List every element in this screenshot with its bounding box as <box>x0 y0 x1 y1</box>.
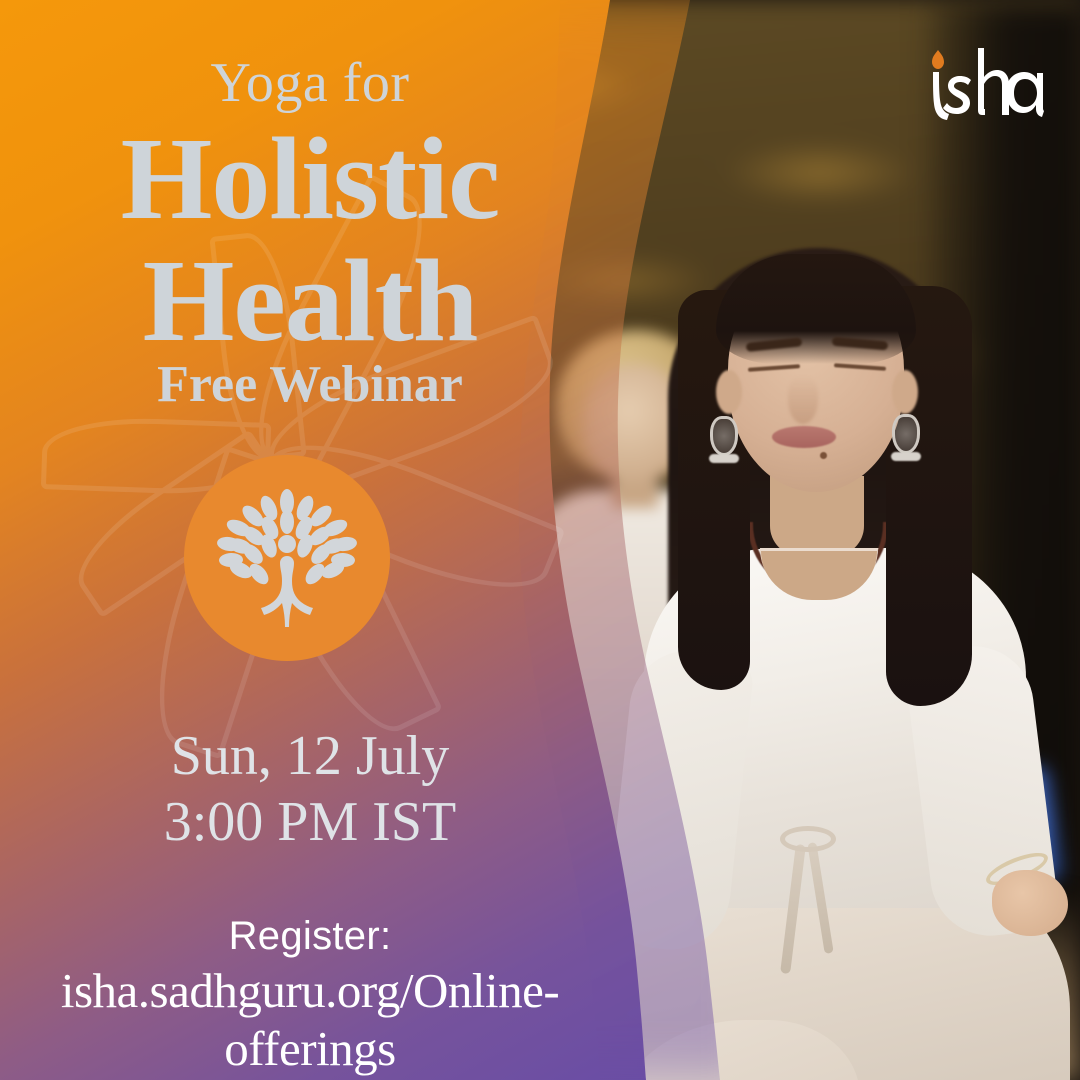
isha-logo <box>920 42 1044 134</box>
promo-poster: Yoga for Holistic Health Free Webinar <box>0 0 1080 1080</box>
headline-line-2: Health <box>0 240 620 362</box>
register-url[interactable]: isha.sadhguru.org/Online-offerings <box>0 962 620 1078</box>
event-date: Sun, 12 July <box>0 724 620 788</box>
headline-line-1: Holistic <box>0 118 620 240</box>
tree-of-life-badge <box>184 455 390 661</box>
event-time: 3:00 PM IST <box>0 790 620 854</box>
isha-wordmark-glyphs <box>932 48 1044 120</box>
foreground-meditating-woman <box>620 230 1050 1080</box>
kicker-text: Yoga for <box>0 52 620 114</box>
register-label: Register: <box>0 912 620 960</box>
content-stack: Yoga for Holistic Health Free Webinar <box>0 0 620 1080</box>
headline-subtitle: Free Webinar <box>0 356 620 414</box>
